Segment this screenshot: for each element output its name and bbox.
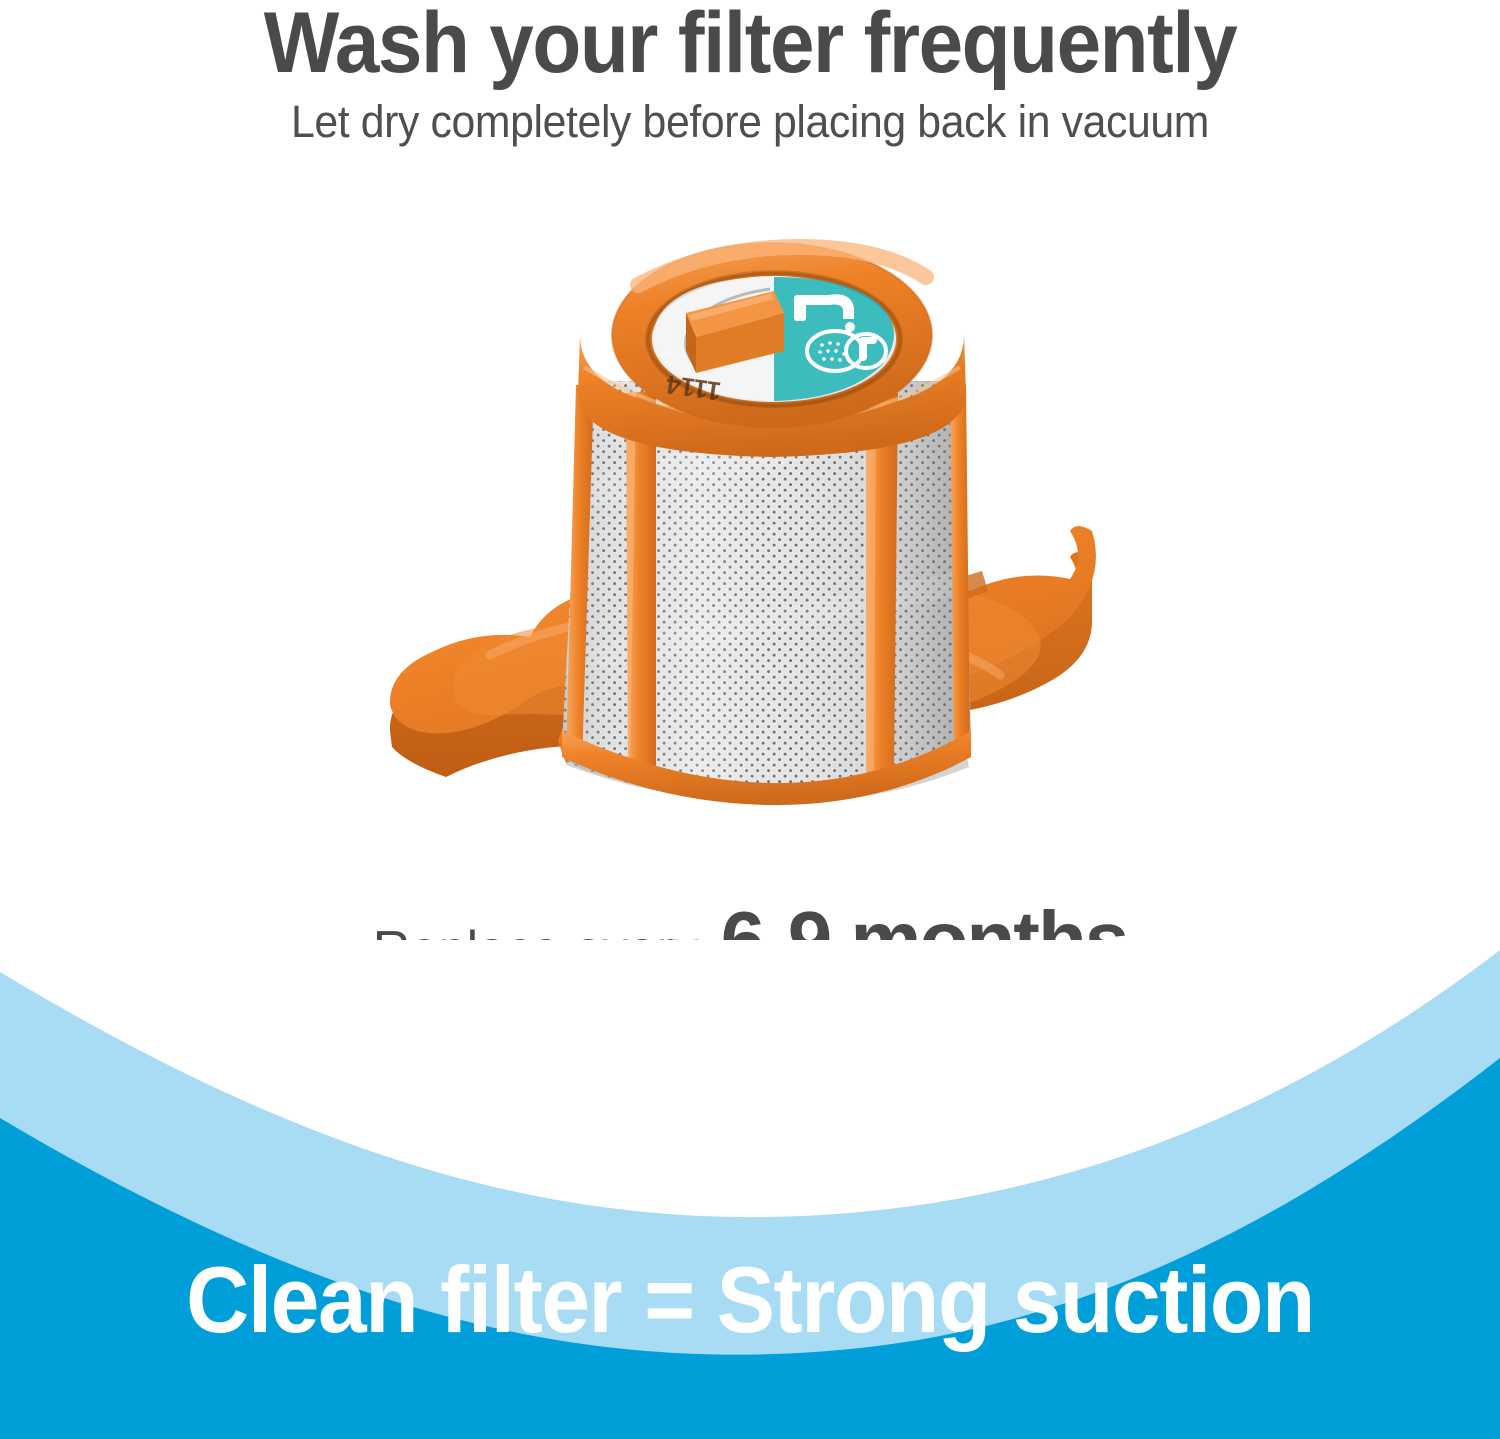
infographic-canvas: Wash your filter frequently Let dry comp… xyxy=(0,0,1500,1439)
banner-message: Clean filter = Strong suction xyxy=(53,1246,1448,1354)
product-image: 1114 xyxy=(370,185,1110,875)
page-subtitle: Let dry completely before placing back i… xyxy=(38,96,1463,148)
wave-banner-background xyxy=(0,940,1500,1439)
page-title: Wash your filter frequently xyxy=(53,0,1448,93)
filter-top-rim: 1114 xyxy=(578,243,966,457)
